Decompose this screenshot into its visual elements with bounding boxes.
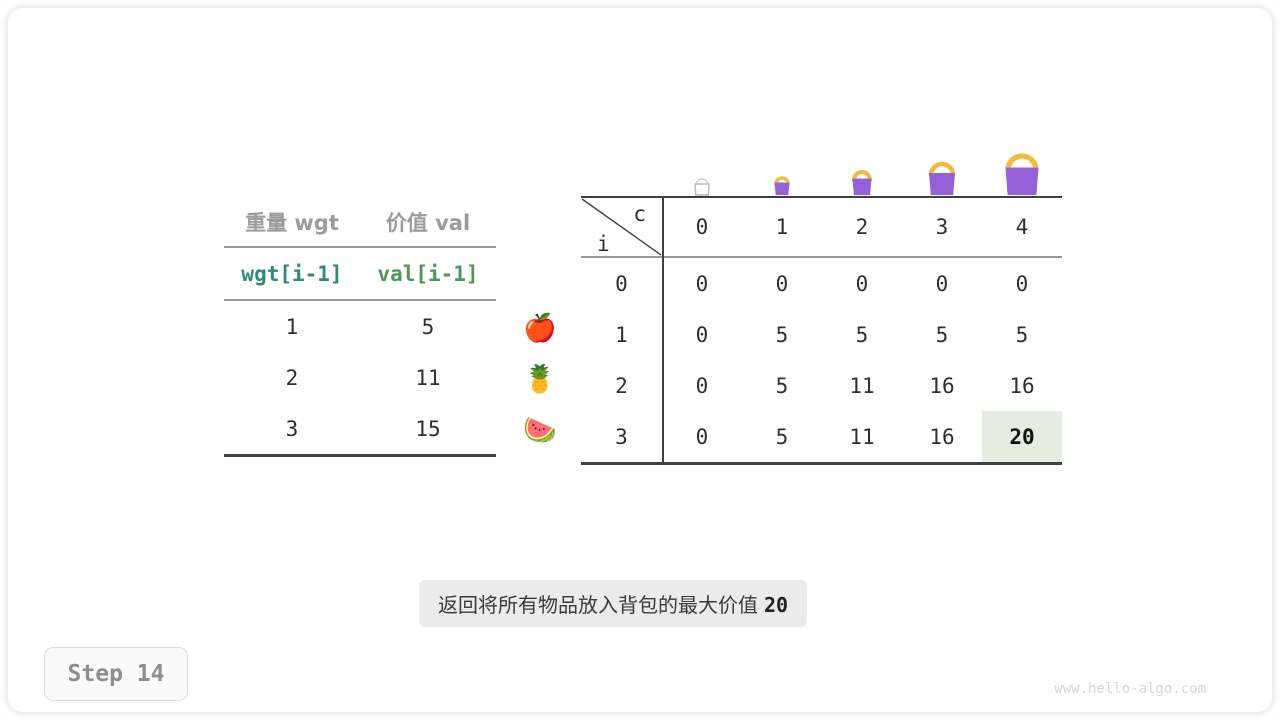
dp-cell-2-4: 16: [982, 360, 1062, 411]
item-table-subheader-val: val[i-1]: [360, 262, 496, 286]
item-table-subheader-wgt: wgt[i-1]: [224, 262, 360, 286]
dp-cell-1-2: 5: [822, 309, 902, 360]
result-caption-value: 20: [764, 593, 788, 617]
dp-cell-0-0: 0: [662, 258, 742, 309]
dp-cell-2-3: 16: [902, 360, 982, 411]
result-caption: 返回将所有物品放入背包的最大价值20: [419, 580, 807, 627]
dp-col-header-4: 4: [982, 198, 1062, 256]
apple-icon: 🍎: [516, 303, 564, 354]
dp-cell-2-0: 0: [662, 360, 742, 411]
item-table-rule-bottom: [224, 454, 496, 457]
dp-table-body: c i 0 1 2 3 4 0 0 0 0 0 0 1 0 5: [581, 198, 1062, 462]
bag-icon-row: [581, 133, 1062, 196]
dp-col-header-2: 2: [822, 198, 902, 256]
item-table-header-weight: 重量 wgt: [224, 207, 360, 237]
dp-col-axis-label: c: [633, 202, 646, 226]
dp-header-row: c i 0 1 2 3 4: [581, 198, 1062, 256]
table-row: 1 5: [224, 301, 496, 352]
item-value-1: 5: [360, 315, 496, 339]
dp-col-header-0: 0: [662, 198, 742, 256]
item-value-3: 15: [360, 417, 496, 441]
dp-table-vertical-divider: [662, 198, 664, 462]
table-row: 3 15: [224, 403, 496, 454]
dp-cell-1-1: 5: [742, 309, 822, 360]
dp-cell-2-1: 5: [742, 360, 822, 411]
dp-col-header-3: 3: [902, 198, 982, 256]
dp-cell-0-4: 0: [982, 258, 1062, 309]
table-row: 3 0 5 11 16 20: [581, 411, 1062, 462]
item-table-subheader-row: wgt[i-1] val[i-1]: [224, 248, 496, 299]
bag-icon: [982, 133, 1062, 196]
dp-cell-3-1: 5: [742, 411, 822, 462]
dp-cell-1-3: 5: [902, 309, 982, 360]
dp-row-header-1: 1: [581, 323, 662, 347]
item-table-header-value: 价值 val: [360, 207, 496, 237]
fruit-column: 🍎 🍍 🍉: [516, 303, 564, 456]
item-table-header-row: 重量 wgt 价值 val: [224, 198, 496, 246]
item-value-2: 11: [360, 366, 496, 390]
dp-row-header-3: 3: [581, 425, 662, 449]
bag-icon: [742, 133, 822, 196]
dp-cell-0-2: 0: [822, 258, 902, 309]
item-table: 重量 wgt 价值 val wgt[i-1] val[i-1] 1 5 2 11…: [224, 198, 496, 457]
dp-table-rule-bottom: [581, 462, 1062, 465]
dp-cell-3-4-highlighted: 20: [982, 411, 1062, 462]
dp-cell-2-2: 11: [822, 360, 902, 411]
step-badge: Step 14: [44, 647, 188, 701]
dp-cell-3-2: 11: [822, 411, 902, 462]
item-weight-3: 3: [224, 417, 360, 441]
dp-table: c i 0 1 2 3 4 0 0 0 0 0 0 1 0 5: [581, 133, 1062, 465]
table-row: 1 0 5 5 5 5: [581, 309, 1062, 360]
dp-row-header-0: 0: [581, 272, 662, 296]
dp-cell-1-0: 0: [662, 309, 742, 360]
dp-col-header-1: 1: [742, 198, 822, 256]
item-weight-1: 1: [224, 315, 360, 339]
dp-row-axis-label: i: [597, 232, 610, 256]
watermark: www.hello-algo.com: [1054, 681, 1206, 697]
table-row: 2 0 5 11 16 16: [581, 360, 1062, 411]
bag-empty-icon: [662, 133, 742, 196]
dp-row-header-2: 2: [581, 374, 662, 398]
bag-icon: [822, 133, 902, 196]
dp-cell-0-3: 0: [902, 258, 982, 309]
item-weight-2: 2: [224, 366, 360, 390]
result-caption-text: 返回将所有物品放入背包的最大价值: [438, 593, 758, 617]
dp-cell-1-4: 5: [982, 309, 1062, 360]
pineapple-icon: 🍍: [516, 354, 564, 405]
dp-cell-3-3: 16: [902, 411, 982, 462]
dp-cell-3-0: 0: [662, 411, 742, 462]
watermelon-icon: 🍉: [516, 405, 564, 456]
table-row: 2 11: [224, 352, 496, 403]
dp-corner-cell: c i: [581, 198, 662, 256]
dp-cell-0-1: 0: [742, 258, 822, 309]
table-row: 0 0 0 0 0 0: [581, 258, 1062, 309]
bag-icon: [902, 133, 982, 196]
slide-card: 重量 wgt 价值 val wgt[i-1] val[i-1] 1 5 2 11…: [8, 8, 1272, 712]
